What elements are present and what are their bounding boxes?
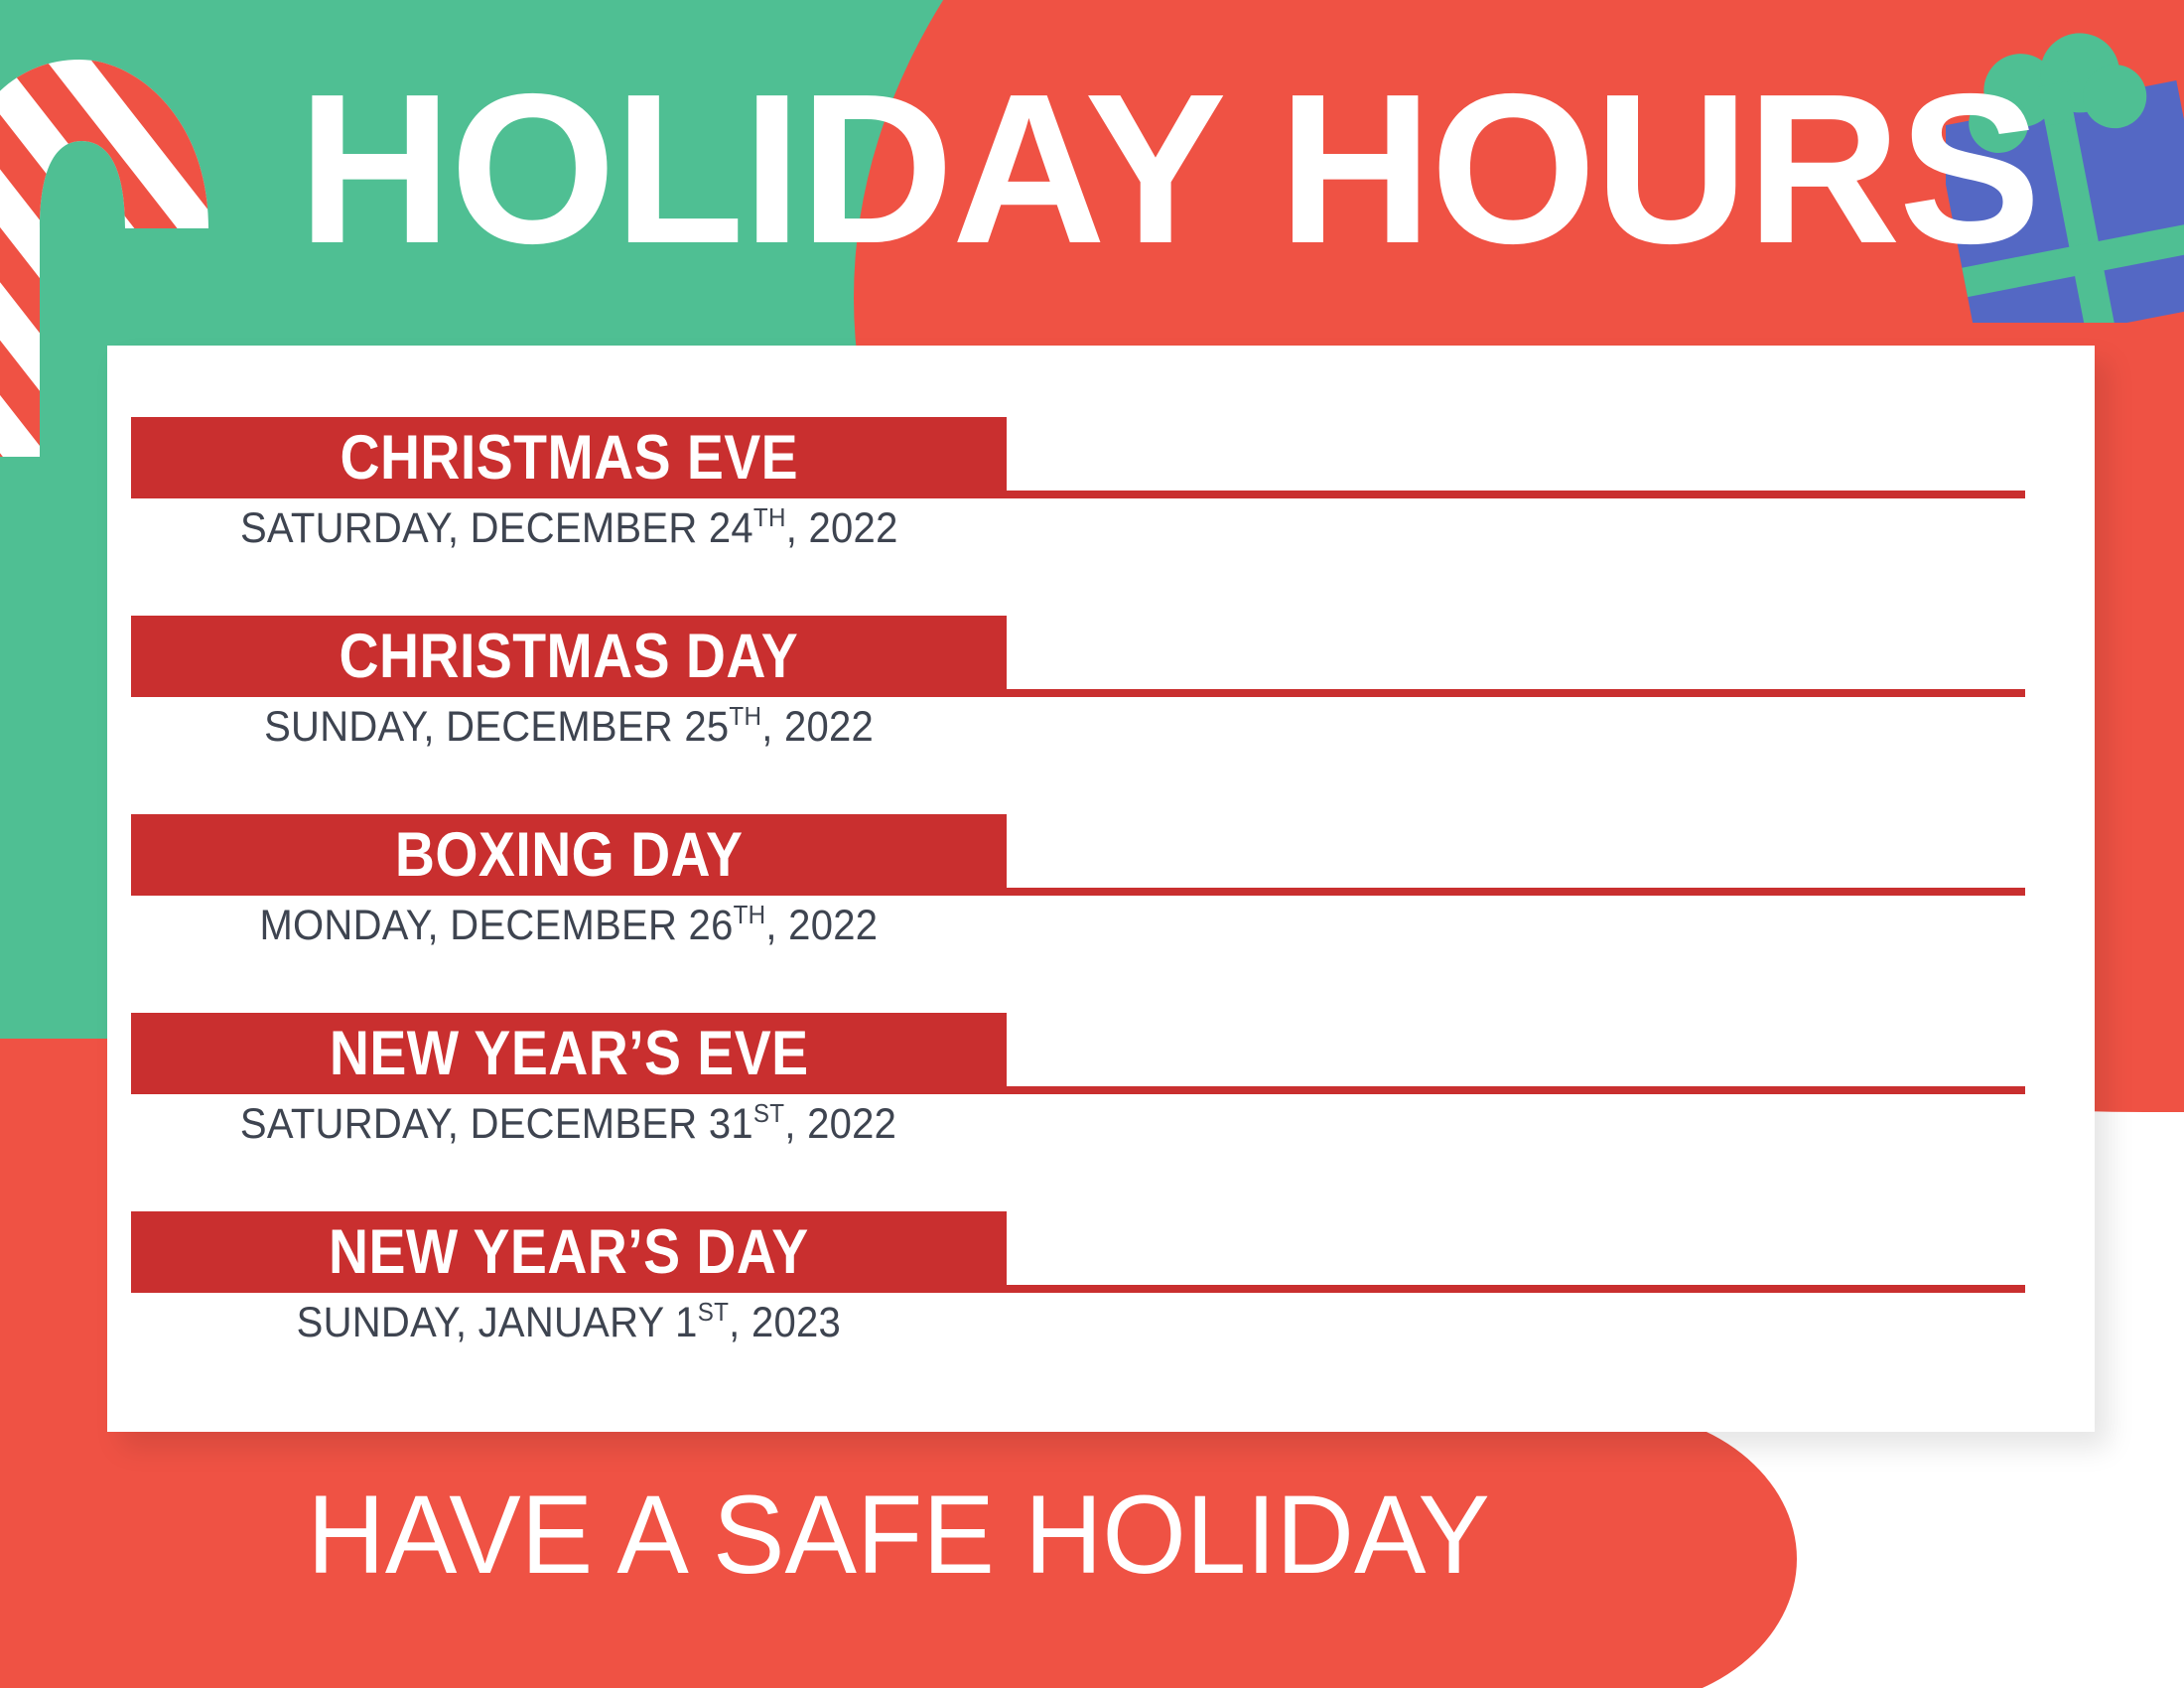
schedule-row: BOXING DAYMONDAY, DECEMBER 26TH, 2022 [107, 743, 2095, 941]
holiday-date-ordinal: TH [729, 701, 761, 731]
schedule-list: CHRISTMAS EVESATURDAY, DECEMBER 24TH, 20… [107, 346, 2095, 1348]
footer-message: HAVE A SAFE HOLIDAY [0, 1479, 1797, 1591]
holiday-date-year: , 2023 [729, 1299, 841, 1346]
holiday-date-ordinal: TH [734, 900, 766, 929]
holiday-name: NEW YEAR’S EVE [330, 1023, 809, 1085]
schedule-row: CHRISTMAS EVESATURDAY, DECEMBER 24TH, 20… [107, 346, 2095, 544]
row-divider-line [1007, 1285, 2025, 1293]
holiday-name-bar: NEW YEAR’S EVE [131, 1013, 1007, 1094]
holiday-date-ordinal: ST [698, 1297, 729, 1327]
holiday-name: BOXING DAY [395, 824, 743, 887]
row-divider-line [1007, 1086, 2025, 1094]
page-title: HOLIDAY HOURS [298, 62, 2039, 275]
holiday-name-bar: NEW YEAR’S DAY [131, 1211, 1007, 1293]
holiday-date-ordinal: ST [753, 1098, 784, 1128]
footer-message-text: HAVE A SAFE HOLIDAY [307, 1479, 1489, 1591]
holiday-name: NEW YEAR’S DAY [329, 1221, 809, 1284]
holiday-date-ordinal: TH [753, 502, 786, 532]
schedule-row: CHRISTMAS DAYSUNDAY, DECEMBER 25TH, 2022 [107, 544, 2095, 743]
row-divider-line [1007, 888, 2025, 896]
holiday-date-weekday: SUNDAY, JANUARY 1 [297, 1299, 698, 1346]
holiday-hours-poster: HOLIDAY HOURS CHRISTMAS EVESATURDAY, DEC… [0, 0, 2184, 1688]
row-divider-line [1007, 689, 2025, 697]
holiday-name-bar: CHRISTMAS EVE [131, 417, 1007, 498]
schedule-card: CHRISTMAS EVESATURDAY, DECEMBER 24TH, 20… [107, 346, 2095, 1432]
holiday-name-bar: CHRISTMAS DAY [131, 616, 1007, 697]
row-divider-line [1007, 491, 2025, 498]
holiday-name-bar: BOXING DAY [131, 814, 1007, 896]
holiday-date: SUNDAY, JANUARY 1ST, 2023 [131, 1299, 1007, 1344]
schedule-row: NEW YEAR’S DAYSUNDAY, JANUARY 1ST, 2023 [107, 1140, 2095, 1348]
holiday-name: CHRISTMAS DAY [340, 626, 799, 688]
holiday-name: CHRISTMAS EVE [340, 427, 798, 490]
schedule-row: NEW YEAR’S EVESATURDAY, DECEMBER 31ST, 2… [107, 941, 2095, 1140]
